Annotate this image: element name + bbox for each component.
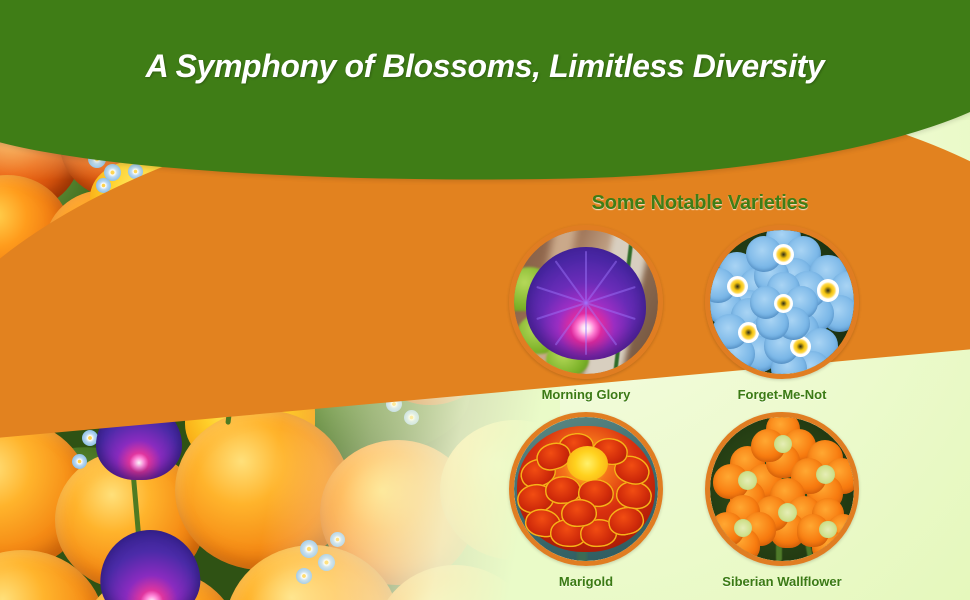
variety-card-marigold[interactable]: Marigold (488, 412, 684, 589)
varieties-grid: Morning Glory (470, 225, 940, 595)
morning-glory-thumbnail[interactable] (509, 225, 663, 379)
marigold-thumbnail[interactable] (509, 412, 663, 566)
varieties-heading: Some Notable Varieties (430, 192, 970, 215)
flower-banner: A Symphony of Blossoms, Limitless Divers… (0, 0, 970, 600)
variety-label-forget-me-not: Forget-Me-Not (684, 387, 880, 402)
variety-card-siberian-wallflower[interactable]: Siberian Wallflower (684, 412, 880, 589)
variety-label-siberian-wallflower: Siberian Wallflower (684, 574, 880, 589)
siberian-wallflower-thumbnail[interactable] (705, 412, 859, 566)
variety-label-morning-glory: Morning Glory (488, 387, 684, 402)
forget-me-not-thumbnail[interactable] (705, 225, 859, 379)
variety-label-marigold: Marigold (488, 574, 684, 589)
variety-card-forget-me-not[interactable]: Forget-Me-Not (684, 225, 880, 402)
variety-card-morning-glory[interactable]: Morning Glory (488, 225, 684, 402)
banner-title: A Symphony of Blossoms, Limitless Divers… (0, 48, 970, 85)
